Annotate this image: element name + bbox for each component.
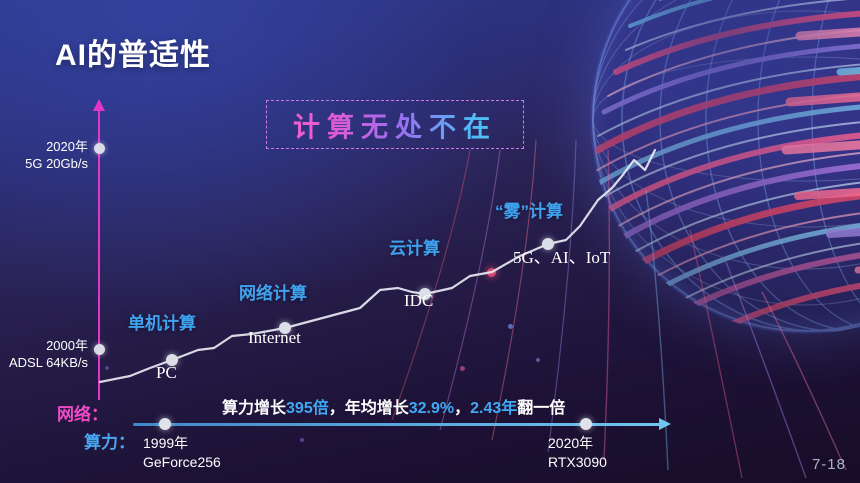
caption-value2: 32.9% xyxy=(409,400,454,417)
era-label-cloud: 云计算 xyxy=(389,234,440,259)
caption-part2: ，年均增长 xyxy=(329,400,409,417)
era-label-fog: “雾”计算 xyxy=(495,197,563,222)
compute-left-year: 1999年 xyxy=(143,434,221,453)
node-label-pc: PC xyxy=(156,363,177,383)
network-axis-name: 网络： xyxy=(57,400,108,425)
era-label-network: 网络计算 xyxy=(239,279,307,304)
decor-spark xyxy=(536,358,540,362)
node-label-5g: 5G、AI、IoT xyxy=(513,243,610,268)
node-label-internet: Internet xyxy=(248,328,301,348)
compute-axis-right-label: 2020年 RTX3090 xyxy=(548,434,607,472)
network-top-year: 2020年 xyxy=(0,138,88,155)
compute-axis-right-dot xyxy=(580,418,592,430)
decor-spark xyxy=(487,268,496,277)
caption-value1: 395倍 xyxy=(286,400,329,417)
network-bottom-year: 2000年 xyxy=(0,337,88,354)
caption-part3: ， xyxy=(454,400,470,417)
network-bottom-speed: ADSL 64KB/s xyxy=(0,354,88,371)
decor-spark xyxy=(508,324,513,329)
banner-text: 计算无处不在 xyxy=(267,105,523,144)
network-axis-top-label: 2020年 5G 20Gb/s xyxy=(0,138,88,172)
compute-axis-name: 算力： xyxy=(84,428,135,453)
compute-axis-left-label: 1999年 GeForce256 xyxy=(143,434,221,472)
decor-spark xyxy=(105,366,109,370)
globe-graphic xyxy=(590,0,860,334)
growth-caption: 算力增长395倍，年均增长32.9%，2.43年翻一倍 xyxy=(222,394,565,418)
network-top-speed: 5G 20Gb/s xyxy=(0,155,88,172)
caption-part1: 算力增长 xyxy=(222,400,286,417)
decor-spark xyxy=(460,366,465,371)
node-label-idc: IDC xyxy=(404,291,433,311)
compute-left-gpu: GeForce256 xyxy=(143,453,221,472)
page-title: AI的普适性 xyxy=(55,30,211,74)
network-axis-bottom-dot xyxy=(94,344,105,355)
compute-right-gpu: RTX3090 xyxy=(548,453,607,472)
compute-axis-left-dot xyxy=(159,418,171,430)
banner-box: 计算无处不在 xyxy=(266,100,524,149)
compute-right-year: 2020年 xyxy=(548,434,607,453)
slide-canvas: AI的普适性 计算无处不在 2020年 5G 20Gb/s 2000年 ADSL… xyxy=(0,0,860,483)
decor-spark xyxy=(300,438,304,442)
era-label-standalone: 单机计算 xyxy=(128,309,196,334)
caption-value3: 2.43年 xyxy=(470,400,517,417)
network-axis-top-dot xyxy=(94,143,105,154)
page-number: 7-18 xyxy=(812,456,846,473)
network-axis-bottom-label: 2000年 ADSL 64KB/s xyxy=(0,337,88,371)
caption-part4: 翻一倍 xyxy=(517,400,565,417)
